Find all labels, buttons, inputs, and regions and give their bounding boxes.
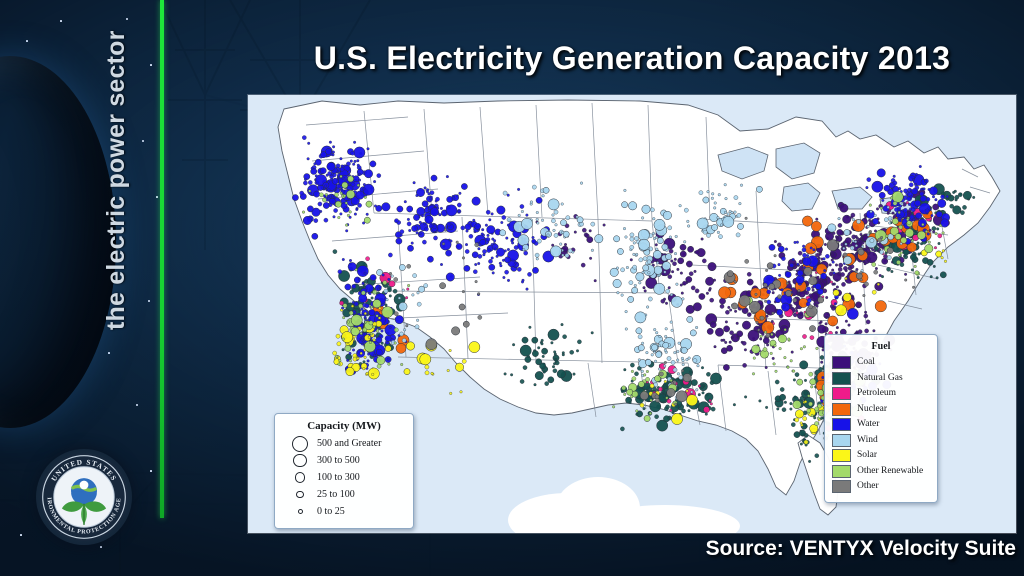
plant-marker xyxy=(446,273,454,281)
plant-marker xyxy=(723,339,726,342)
plant-marker xyxy=(831,306,835,310)
plant-marker xyxy=(683,241,686,244)
plant-marker xyxy=(880,250,884,254)
plant-marker xyxy=(792,258,795,261)
plant-marker xyxy=(785,248,788,251)
plant-marker xyxy=(543,187,549,193)
plant-marker xyxy=(574,231,577,234)
plant-marker xyxy=(542,355,545,358)
plant-marker xyxy=(362,367,365,370)
plant-marker xyxy=(806,287,810,291)
plant-marker xyxy=(858,238,861,241)
plant-marker xyxy=(851,213,855,217)
plant-marker xyxy=(322,198,326,202)
plant-marker xyxy=(904,189,908,193)
fuel-legend-item[interactable]: Water xyxy=(832,417,930,433)
capacity-circle xyxy=(292,436,308,452)
plant-marker xyxy=(634,372,638,376)
plant-marker xyxy=(413,214,419,220)
fuel-legend-item[interactable]: Other Renewable xyxy=(832,464,930,480)
fuel-legend-label: Nuclear xyxy=(857,405,887,415)
capacity-legend-item[interactable]: 100 to 300 xyxy=(283,469,405,486)
plant-marker xyxy=(377,288,380,291)
plant-marker xyxy=(561,323,564,326)
plant-marker xyxy=(354,147,365,158)
plant-marker xyxy=(671,382,674,385)
plant-marker xyxy=(800,347,803,350)
plant-marker xyxy=(426,339,437,350)
plant-marker xyxy=(644,290,647,293)
plant-marker xyxy=(464,265,470,271)
plant-marker xyxy=(345,179,348,182)
plant-marker xyxy=(832,261,835,264)
plant-marker xyxy=(687,225,690,228)
fuel-legend-item[interactable]: Nuclear xyxy=(832,402,930,418)
fuel-legend-label: Water xyxy=(857,420,879,430)
plant-marker xyxy=(699,191,703,195)
plant-marker xyxy=(790,408,793,411)
plant-marker xyxy=(389,295,392,298)
plant-marker xyxy=(795,307,798,310)
plant-marker xyxy=(925,209,929,213)
plant-marker xyxy=(882,258,888,264)
capacity-legend-item[interactable]: 500 and Greater xyxy=(283,435,405,452)
plant-marker xyxy=(679,204,682,207)
plant-marker xyxy=(706,292,709,295)
plant-marker xyxy=(636,273,644,281)
plant-marker xyxy=(665,328,668,331)
plant-marker xyxy=(483,253,486,256)
plant-marker xyxy=(564,243,567,246)
plant-marker xyxy=(328,171,332,175)
plant-marker xyxy=(946,198,949,201)
plant-marker xyxy=(629,401,632,404)
plant-marker xyxy=(838,267,842,271)
plant-marker xyxy=(887,267,891,271)
plant-marker xyxy=(865,329,869,333)
capacity-legend[interactable]: Capacity (MW) 500 and Greater300 to 5001… xyxy=(274,413,414,529)
plant-marker xyxy=(487,234,490,237)
plant-marker xyxy=(532,351,538,357)
plant-marker xyxy=(774,254,777,257)
plant-marker xyxy=(864,262,867,265)
plant-marker xyxy=(568,249,572,253)
plant-marker xyxy=(376,337,382,343)
plant-marker xyxy=(566,216,570,220)
plant-marker xyxy=(668,275,672,279)
plant-marker xyxy=(503,276,506,279)
plant-marker xyxy=(836,326,839,329)
plant-marker xyxy=(836,286,839,289)
plant-marker xyxy=(870,210,873,213)
plant-marker xyxy=(327,162,335,170)
plant-marker xyxy=(760,316,764,320)
plant-marker xyxy=(869,230,872,233)
plant-marker xyxy=(779,347,782,350)
plant-marker xyxy=(678,258,684,264)
plant-marker xyxy=(505,257,511,263)
plant-marker xyxy=(373,180,376,183)
plant-marker xyxy=(507,224,510,227)
plant-marker xyxy=(872,218,878,224)
plant-marker xyxy=(799,291,805,297)
plant-marker xyxy=(627,389,633,395)
plant-marker xyxy=(812,289,815,292)
plant-marker xyxy=(512,343,515,346)
plant-marker xyxy=(589,230,592,233)
plant-marker xyxy=(535,371,543,379)
fuel-legend-item[interactable]: Natural Gas xyxy=(832,371,930,387)
plant-marker xyxy=(500,230,506,236)
plant-marker xyxy=(560,220,566,226)
fuel-legend-item[interactable]: Other xyxy=(832,479,930,495)
plant-marker xyxy=(780,387,784,391)
plant-marker xyxy=(347,321,350,324)
plant-marker xyxy=(946,195,949,198)
plant-marker xyxy=(526,214,529,217)
plant-marker xyxy=(711,197,714,200)
fuel-color-swatch xyxy=(832,372,851,385)
plant-marker xyxy=(548,377,554,383)
plant-marker xyxy=(555,224,558,227)
plant-marker xyxy=(358,179,361,182)
fuel-legend[interactable]: Fuel CoalNatural GasPetroleumNuclearWate… xyxy=(824,334,938,503)
plant-marker xyxy=(935,198,938,201)
plant-marker xyxy=(371,297,374,300)
plant-marker xyxy=(515,262,518,265)
plant-marker xyxy=(904,255,908,259)
plant-marker xyxy=(718,287,730,299)
plant-marker xyxy=(532,267,538,273)
plant-marker xyxy=(778,263,781,266)
plant-marker xyxy=(555,360,558,363)
plant-marker xyxy=(703,230,707,234)
plant-marker xyxy=(903,208,907,212)
plant-marker xyxy=(887,206,890,209)
plant-marker xyxy=(804,400,807,403)
plant-marker xyxy=(888,216,892,220)
fuel-color-swatch xyxy=(832,465,851,478)
plant-marker xyxy=(510,374,513,377)
plant-marker xyxy=(794,432,800,438)
fuel-color-swatch xyxy=(832,434,851,447)
plant-marker xyxy=(614,236,620,242)
plant-marker xyxy=(562,254,565,257)
plant-marker xyxy=(724,326,730,332)
plant-marker xyxy=(646,370,649,373)
plant-marker xyxy=(745,259,749,263)
plant-marker xyxy=(784,401,787,404)
plant-marker xyxy=(674,252,677,255)
plant-marker xyxy=(416,319,419,322)
plant-marker xyxy=(824,243,827,246)
plant-marker xyxy=(626,266,629,269)
plant-marker xyxy=(841,282,845,286)
page-title: U.S. Electricity Generation Capacity 201… xyxy=(248,40,1016,77)
plant-marker xyxy=(440,283,446,289)
plant-marker xyxy=(424,227,428,231)
plant-marker xyxy=(922,223,925,226)
plant-marker xyxy=(621,294,624,297)
plant-marker xyxy=(934,246,937,249)
plant-marker xyxy=(370,306,373,309)
plant-marker xyxy=(340,309,343,312)
plant-marker xyxy=(725,310,729,314)
plant-marker xyxy=(440,239,451,250)
plant-marker xyxy=(655,331,658,334)
plant-marker xyxy=(345,345,351,351)
plant-marker xyxy=(912,178,915,181)
plant-marker xyxy=(872,262,876,266)
plant-marker xyxy=(641,370,644,373)
plant-marker xyxy=(415,325,419,329)
plant-marker xyxy=(325,193,328,196)
plant-marker xyxy=(548,199,559,210)
plant-marker xyxy=(819,251,822,254)
plant-marker xyxy=(893,181,897,185)
plant-marker xyxy=(690,330,696,336)
plant-marker xyxy=(429,198,432,201)
plant-marker xyxy=(668,344,671,347)
plant-marker xyxy=(701,238,704,241)
plant-marker xyxy=(624,368,627,371)
plant-marker xyxy=(777,295,781,299)
fuel-legend-item[interactable]: Petroleum xyxy=(832,386,930,402)
plant-marker xyxy=(797,263,800,266)
plant-marker xyxy=(727,271,733,277)
plant-marker xyxy=(554,210,558,214)
plant-marker xyxy=(594,279,597,282)
fuel-legend-item[interactable]: Wind xyxy=(832,433,930,449)
plant-marker xyxy=(640,403,644,407)
plant-marker xyxy=(734,310,737,313)
plant-marker xyxy=(613,279,621,287)
plant-marker xyxy=(696,389,699,392)
plant-marker xyxy=(769,284,775,290)
plant-marker xyxy=(338,270,342,274)
plant-marker xyxy=(682,359,685,362)
plant-marker xyxy=(895,234,901,240)
plant-marker xyxy=(892,212,895,215)
plant-marker xyxy=(663,365,666,368)
plant-marker xyxy=(489,219,492,222)
plant-marker xyxy=(643,374,646,377)
plant-marker xyxy=(369,341,372,344)
plant-marker xyxy=(818,297,824,303)
plant-marker xyxy=(396,343,406,353)
plant-marker xyxy=(577,217,583,223)
plant-marker xyxy=(349,211,352,214)
plant-marker xyxy=(863,294,866,297)
plant-marker xyxy=(814,303,817,306)
plant-marker xyxy=(874,247,878,251)
plant-marker xyxy=(835,264,838,267)
plant-marker xyxy=(713,207,716,210)
plant-marker xyxy=(440,263,443,266)
plant-marker xyxy=(912,286,915,289)
fuel-legend-item[interactable]: Solar xyxy=(832,448,930,464)
plant-marker xyxy=(663,211,671,219)
plant-marker xyxy=(318,202,322,206)
plant-marker xyxy=(366,201,372,207)
plant-marker xyxy=(646,351,649,354)
plant-marker xyxy=(332,151,335,154)
plant-marker xyxy=(682,298,685,301)
plant-marker xyxy=(743,363,747,367)
plant-marker xyxy=(798,289,801,292)
plant-marker xyxy=(536,359,542,365)
plant-marker xyxy=(643,257,647,261)
plant-marker xyxy=(823,269,826,272)
plant-marker xyxy=(475,243,479,247)
plant-marker xyxy=(747,313,751,317)
plant-marker xyxy=(382,203,390,211)
plant-marker xyxy=(547,234,550,237)
plant-marker xyxy=(688,246,694,252)
plant-marker xyxy=(354,160,357,163)
capacity-legend-item[interactable]: 0 to 25 xyxy=(283,503,405,520)
plant-marker xyxy=(486,237,490,241)
plant-marker xyxy=(465,243,468,246)
plant-marker xyxy=(658,387,662,391)
plant-marker xyxy=(780,394,786,400)
plant-marker xyxy=(623,227,626,230)
plant-marker xyxy=(681,347,687,353)
plant-marker xyxy=(858,242,862,246)
map-panel[interactable]: Fuel CoalNatural GasPetroleumNuclearWate… xyxy=(248,95,1016,533)
plant-marker xyxy=(855,270,858,273)
plant-marker xyxy=(309,192,312,195)
plant-marker xyxy=(642,205,650,213)
plant-marker xyxy=(617,291,620,294)
plant-marker xyxy=(492,272,495,275)
plant-marker xyxy=(706,372,710,376)
plant-marker xyxy=(820,361,823,364)
capacity-legend-item[interactable]: 300 to 500 xyxy=(283,452,405,469)
plant-marker xyxy=(898,208,901,211)
plant-marker xyxy=(363,361,366,364)
plant-marker xyxy=(935,232,938,235)
plant-marker xyxy=(370,274,376,280)
plant-marker xyxy=(901,237,907,243)
plant-marker xyxy=(691,286,695,290)
plant-marker xyxy=(705,277,713,285)
plant-marker xyxy=(831,269,834,272)
plant-marker xyxy=(936,228,939,231)
plant-marker xyxy=(559,243,562,246)
plant-marker xyxy=(624,189,627,192)
plant-marker xyxy=(900,252,903,255)
plant-marker xyxy=(422,201,428,207)
plant-marker xyxy=(663,342,669,348)
plant-marker xyxy=(565,253,569,257)
plant-marker xyxy=(804,440,808,444)
plant-marker xyxy=(303,181,307,185)
plant-marker xyxy=(710,322,716,328)
plant-marker xyxy=(938,199,946,207)
plant-marker xyxy=(340,167,344,171)
plant-marker xyxy=(472,252,478,258)
plant-marker xyxy=(553,351,556,354)
fuel-color-swatch xyxy=(832,418,851,431)
plant-marker xyxy=(446,205,457,216)
plant-marker xyxy=(339,359,342,362)
plant-marker xyxy=(912,188,918,194)
plant-marker xyxy=(345,224,348,227)
plant-marker xyxy=(932,195,935,198)
plant-marker xyxy=(802,253,806,257)
plant-marker xyxy=(711,193,714,196)
plant-marker xyxy=(850,246,854,250)
plant-marker xyxy=(841,272,845,276)
plant-marker xyxy=(756,321,759,324)
plant-marker xyxy=(348,176,354,182)
plant-marker xyxy=(914,183,917,186)
plant-marker xyxy=(366,213,369,216)
plant-marker xyxy=(388,363,391,366)
plant-marker xyxy=(407,264,411,268)
plant-marker xyxy=(825,323,828,326)
plant-marker xyxy=(843,215,851,223)
plant-marker xyxy=(458,210,461,213)
plant-marker xyxy=(891,270,894,273)
plant-marker xyxy=(874,214,877,217)
plant-marker xyxy=(724,211,727,214)
plant-marker xyxy=(886,235,889,238)
plant-marker xyxy=(311,167,314,170)
source-attribution: Source: VENTYX Velocity Suite xyxy=(520,537,1016,561)
plant-marker xyxy=(641,217,644,220)
plant-marker xyxy=(625,236,628,239)
plant-marker xyxy=(632,377,636,381)
plant-marker xyxy=(456,241,459,244)
plant-marker xyxy=(936,277,939,280)
plant-marker xyxy=(373,290,377,294)
plant-marker xyxy=(765,366,768,369)
plant-marker xyxy=(813,249,816,252)
plant-marker xyxy=(797,379,803,385)
plant-marker xyxy=(416,231,419,234)
plant-marker xyxy=(752,345,760,353)
plant-marker xyxy=(744,349,747,352)
plant-marker xyxy=(762,321,774,333)
plant-marker xyxy=(486,210,490,214)
plant-marker xyxy=(838,223,842,227)
plant-marker xyxy=(462,290,465,293)
plant-marker xyxy=(655,398,659,402)
plant-marker xyxy=(650,384,654,388)
plant-marker xyxy=(650,399,653,402)
plant-marker xyxy=(462,257,465,260)
plant-marker xyxy=(621,390,624,393)
plant-marker xyxy=(475,280,478,283)
capacity-legend-item[interactable]: 25 to 100 xyxy=(283,486,405,503)
plant-marker xyxy=(399,302,407,310)
plant-marker xyxy=(765,269,768,272)
plant-marker xyxy=(337,342,341,346)
plant-marker xyxy=(680,251,686,257)
plant-marker xyxy=(733,403,736,406)
plant-marker xyxy=(636,413,639,416)
plant-marker xyxy=(648,297,652,301)
fuel-legend-label: Other Renewable xyxy=(857,467,923,477)
plant-marker xyxy=(709,399,712,402)
plant-marker xyxy=(910,196,913,199)
capacity-legend-rows: 500 and Greater300 to 500100 to 30025 to… xyxy=(283,435,405,520)
plant-marker xyxy=(717,216,720,219)
fuel-legend-item[interactable]: Coal xyxy=(832,355,930,371)
plant-marker xyxy=(352,163,355,166)
